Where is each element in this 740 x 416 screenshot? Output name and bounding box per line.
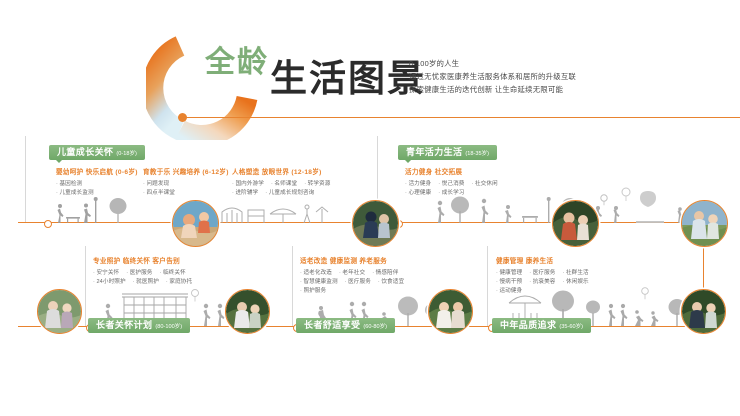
infographic-canvas: 全龄 生活图景 0-100岁的人生 通过无忧家医康养生活服务体系和居所的升级互联… [0,0,740,416]
block-character-world-items: 国内外游学 名师课堂 转学资源 进阶辅学 儿童成长规划咨询 [232,179,337,196]
block-elder-comfort: 适老改造 健康监测 养老服务 适老化改造 老年社交 情感陪伴 智慧健康监测 医疗… [300,255,420,294]
list-item: 悦己消费 [438,179,464,187]
list-item: 24小时照护 [93,277,126,285]
list-item: 情感陪伴 [372,268,398,276]
photo-elder-care[interactable] [225,289,270,334]
badge-youth-age: (18-35岁) [465,151,489,157]
list-item: 社交休闲 [472,179,498,187]
list-item: 儿童成长规划咨询 [265,188,314,196]
list-item: 心理健康 [405,188,431,196]
badge-midlife-quality-age: (35-60岁) [559,324,583,330]
divider-right-bottom [487,246,488,326]
header-rule [184,117,740,118]
list-item: 基因检测 [56,179,138,187]
list-item: 名师课堂 [271,179,297,187]
badge-children-age: (0-18岁) [116,151,137,157]
divider-left-top [25,136,26,222]
scene-top-mid [218,196,338,223]
photo-youth-backpack[interactable] [352,200,399,247]
block-youth-vitality-head: 活力健身 社交拓展 [405,166,520,176]
list-item: 儿童成长监测 [56,188,138,196]
badge-elder-comfort[interactable]: 长者舒适享受(60-80岁) [296,318,395,333]
block-infant-care-items: 基因检测 儿童成长监测 [56,179,138,196]
list-item: 饮食适宜 [378,277,404,285]
scene-top-left [40,192,175,223]
photo-midlife-couple[interactable] [681,289,726,334]
list-item: 就医照护 [133,277,159,285]
photo-two-women[interactable] [428,289,473,334]
block-education-fun: 育教于乐 兴趣培养 (6-12岁) 问题发现 四点半课堂 [143,166,229,196]
badge-youth[interactable]: 青年活力生活(18-35岁) [398,145,497,160]
badge-children-label: 儿童成长关怀 [57,147,113,157]
block-character-world: 人格塑造 放眼世界 (12-18岁) 国内外游学 名师课堂 转学资源 进阶辅学 … [232,166,337,196]
list-item: 慢病干预 [496,277,522,285]
block-education-fun-head: 育教于乐 兴趣培养 (6-12岁) [143,166,229,176]
block-midlife-quality: 健康管理 康养生活 健康管理 医疗服务 社群生活 慢病干预 抗衰美容 休闲娱乐 … [496,255,616,294]
list-item: 问题发现 [143,179,229,187]
list-item: 智慧健康监测 [300,277,338,285]
block-elder-comfort-head: 适老改造 健康监测 养老服务 [300,255,420,265]
list-item: 医疗服务 [345,277,371,285]
page-title: 生活图景 [270,60,426,97]
title-accent: 全龄 [205,48,269,78]
photo-couple-walking[interactable] [681,200,728,247]
list-item: 活力健身 [405,179,431,187]
block-elder-comfort-items: 适老化改造 老年社交 情感陪伴 智慧健康监测 医疗服务 饮食适宜 照护服务 [300,268,420,294]
list-item: 医疗服务 [529,268,555,276]
badge-midlife-quality-label: 中年品质追求 [500,320,556,330]
list-item: 安宁关怀 [93,268,119,276]
list-item: 抗衰美容 [529,277,555,285]
list-item: 成长学习 [438,188,464,196]
photo-young-couple[interactable] [552,200,599,247]
list-item: 转学资源 [304,179,330,187]
list-item: 适老化改造 [300,268,332,276]
list-item: 社群生活 [563,268,589,276]
list-item: 四点半课堂 [143,188,229,196]
list-item: 进阶辅学 [232,188,258,196]
list-item: 家庭协托 [166,277,192,285]
photo-child-play[interactable] [172,200,219,247]
block-youth-vitality: 活力健身 社交拓展 活力健身 悦己消费 社交休闲 心理健康 成长学习 [405,166,520,196]
block-education-fun-items: 问题发现 四点半课堂 [143,179,229,196]
list-item: 老年社交 [339,268,365,276]
block-youth-vitality-items: 活力健身 悦己消费 社交休闲 心理健康 成长学习 [405,179,520,196]
header-subtitle: 0-100岁的人生 通过无忧家医康养生活服务体系和居所的升级互联 探索健康生活的… [409,58,589,97]
list-item: 临终关怀 [160,268,186,276]
block-infant-care: 婴幼呵护 快乐启航 (0-6岁) 基因检测 儿童成长监测 [56,166,138,196]
badge-elder-care-plan[interactable]: 长者关怀计划(80-100岁) [88,318,190,333]
badge-elder-comfort-label: 长者舒适享受 [304,320,360,330]
subtitle-line-2: 通过无忧家医康养生活服务体系和居所的升级互联 [409,71,589,84]
list-item: 国内外游学 [232,179,264,187]
block-elder-care-items: 安宁关怀 医护服务 临终关怀 24小时照护 就医照护 家庭协托 [93,268,203,285]
list-item: 照护服务 [300,286,326,294]
list-item: 健康管理 [496,268,522,276]
divider-left-bottom [85,246,86,326]
block-elder-care-head: 专业照护 临终关怀 客户告别 [93,255,203,265]
block-infant-care-head: 婴幼呵护 快乐启航 (0-6岁) [56,166,138,176]
divider-mid-bottom [292,246,293,326]
subtitle-line-3: 探索健康生活的迭代创新 让生命延续无限可能 [409,84,589,97]
list-item: 休闲娱乐 [563,277,589,285]
subtitle-line-1: 0-100岁的人生 [409,58,589,71]
badge-youth-label: 青年活力生活 [406,147,462,157]
photo-elder-couple[interactable] [37,289,82,334]
badge-children[interactable]: 儿童成长关怀(0-18岁) [49,145,145,160]
badge-elder-care-plan-label: 长者关怀计划 [96,320,152,330]
block-character-world-head: 人格塑造 放眼世界 (12-18岁) [232,166,337,176]
badge-midlife-quality[interactable]: 中年品质追求(35-60岁) [492,318,591,333]
list-item: 医护服务 [126,268,152,276]
badge-elder-comfort-age: (60-80岁) [363,324,387,330]
block-midlife-quality-items: 健康管理 医疗服务 社群生活 慢病干预 抗衰美容 休闲娱乐 运动健身 [496,268,616,294]
badge-elder-care-plan-age: (80-100岁) [155,324,182,330]
block-midlife-quality-head: 健康管理 康养生活 [496,255,616,265]
list-item: 运动健身 [496,286,522,294]
block-elder-care: 专业照护 临终关怀 客户告别 安宁关怀 医护服务 临终关怀 24小时照护 就医照… [93,255,203,285]
